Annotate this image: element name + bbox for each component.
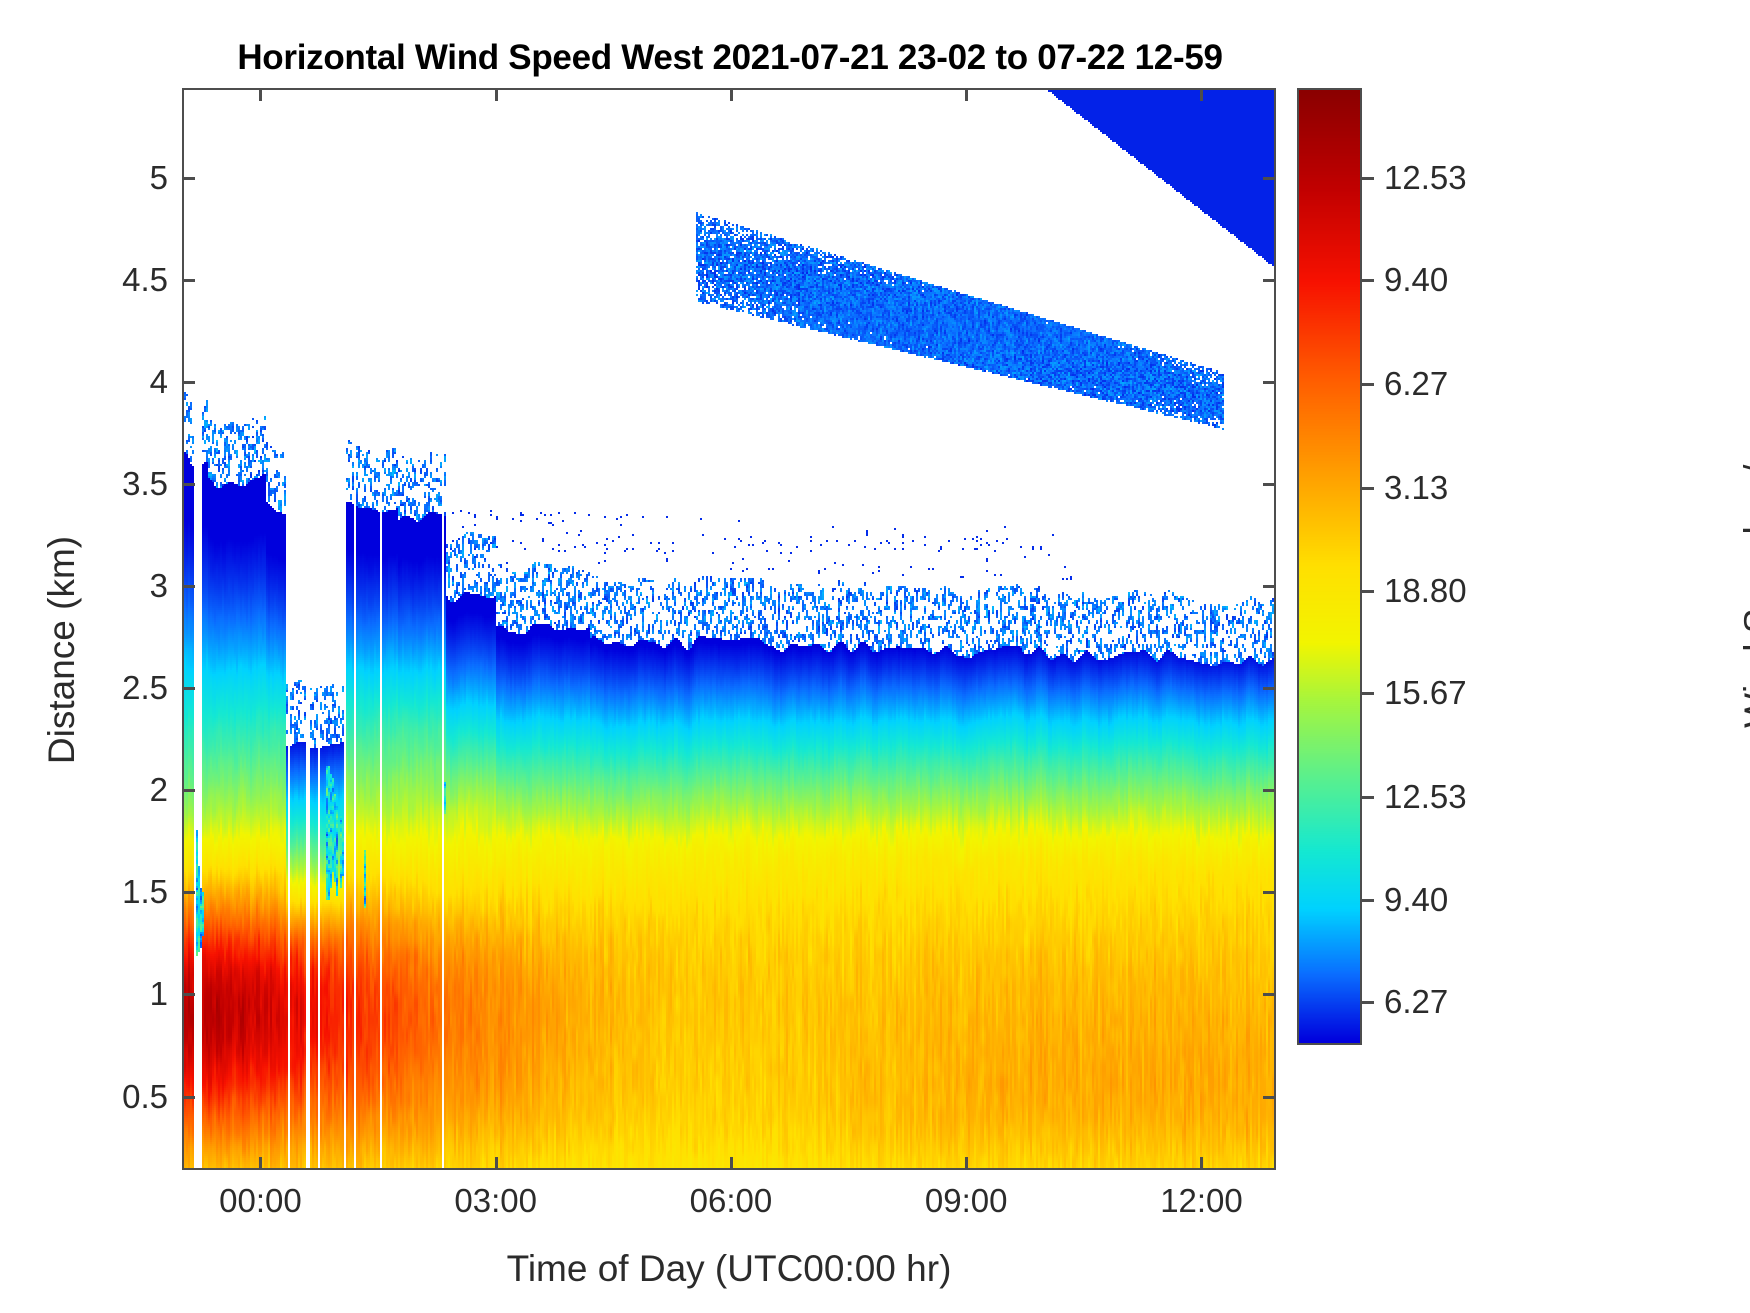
y-tick-label: 1: [150, 975, 168, 1013]
colorbar-tick-mark: [1362, 796, 1374, 799]
y-tick-mark-right: [1263, 891, 1276, 894]
y-tick-label: 2: [150, 771, 168, 809]
colorbar-tick-label: 3.13: [1384, 469, 1448, 507]
y-tick-label: 3.5: [122, 465, 168, 503]
y-tick-mark: [182, 789, 195, 792]
y-tick-mark-right: [1263, 483, 1276, 486]
x-tick-mark-top: [495, 88, 498, 101]
colorbar-tick-mark: [1362, 1001, 1374, 1004]
x-tick-mark: [1200, 1157, 1203, 1170]
x-tick-label: 06:00: [690, 1182, 773, 1220]
x-tick-label: 12:00: [1160, 1182, 1243, 1220]
y-tick-mark-right: [1263, 993, 1276, 996]
colorbar-tick-label: 12.53: [1384, 778, 1467, 816]
x-tick-mark-top: [965, 88, 968, 101]
colorbar-tick-label: 6.27: [1384, 365, 1448, 403]
x-tick-mark: [495, 1157, 498, 1170]
colorbar-tick-label: 18.80: [1384, 572, 1467, 610]
y-tick-label: 3: [150, 567, 168, 605]
y-tick-mark: [182, 891, 195, 894]
colorbar-tick-label: 9.40: [1384, 881, 1448, 919]
y-tick-mark: [182, 1096, 195, 1099]
y-tick-mark-right: [1263, 381, 1276, 384]
plot-axes: [182, 88, 1276, 1170]
y-tick-mark: [182, 483, 195, 486]
y-tick-mark-right: [1263, 585, 1276, 588]
y-tick-mark: [182, 279, 195, 282]
colorbar-tick-mark: [1362, 177, 1374, 180]
y-tick-label: 5: [150, 159, 168, 197]
y-axis-label: Distance (km): [41, 470, 83, 830]
y-tick-label: 2.5: [122, 669, 168, 707]
x-tick-mark: [730, 1157, 733, 1170]
page-title: Horizontal Wind Speed West 2021-07-21 23…: [0, 38, 1460, 78]
y-tick-label: 1.5: [122, 873, 168, 911]
y-tick-mark-right: [1263, 177, 1276, 180]
y-tick-label: 0.5: [122, 1078, 168, 1116]
colorbar-tick-mark: [1362, 279, 1374, 282]
y-tick-mark-right: [1263, 789, 1276, 792]
x-tick-mark-top: [1200, 88, 1203, 101]
y-tick-mark: [182, 177, 195, 180]
colorbar-tick-label: 12.53: [1384, 159, 1467, 197]
colorbar-tick-mark: [1362, 383, 1374, 386]
colorbar-gradient: [1299, 90, 1360, 1043]
figure-canvas: Horizontal Wind Speed West 2021-07-21 23…: [0, 0, 1750, 1313]
y-tick-label: 4: [150, 363, 168, 401]
y-tick-mark-right: [1263, 687, 1276, 690]
y-tick-label: 4.5: [122, 261, 168, 299]
y-tick-mark: [182, 381, 195, 384]
y-tick-mark-right: [1263, 279, 1276, 282]
x-tick-mark: [259, 1157, 262, 1170]
colorbar-label: Wind Speed, m/s: [1737, 337, 1750, 837]
x-axis-label: Time of Day (UTC00:00 hr): [182, 1248, 1276, 1290]
heatmap-image: [184, 90, 1274, 1168]
colorbar-tick-mark: [1362, 590, 1374, 593]
x-tick-mark: [965, 1157, 968, 1170]
x-tick-label: 00:00: [219, 1182, 302, 1220]
colorbar: [1297, 88, 1362, 1045]
y-tick-mark: [182, 585, 195, 588]
colorbar-tick-label: 15.67: [1384, 674, 1467, 712]
colorbar-tick-mark: [1362, 899, 1374, 902]
y-tick-mark: [182, 993, 195, 996]
x-tick-label: 03:00: [454, 1182, 537, 1220]
colorbar-tick-label: 6.27: [1384, 983, 1448, 1021]
colorbar-tick-mark: [1362, 692, 1374, 695]
colorbar-tick-mark: [1362, 487, 1374, 490]
x-tick-label: 09:00: [925, 1182, 1008, 1220]
x-tick-mark-top: [730, 88, 733, 101]
y-tick-mark-right: [1263, 1096, 1276, 1099]
x-tick-mark-top: [259, 88, 262, 101]
colorbar-tick-label: 9.40: [1384, 261, 1448, 299]
y-tick-mark: [182, 687, 195, 690]
